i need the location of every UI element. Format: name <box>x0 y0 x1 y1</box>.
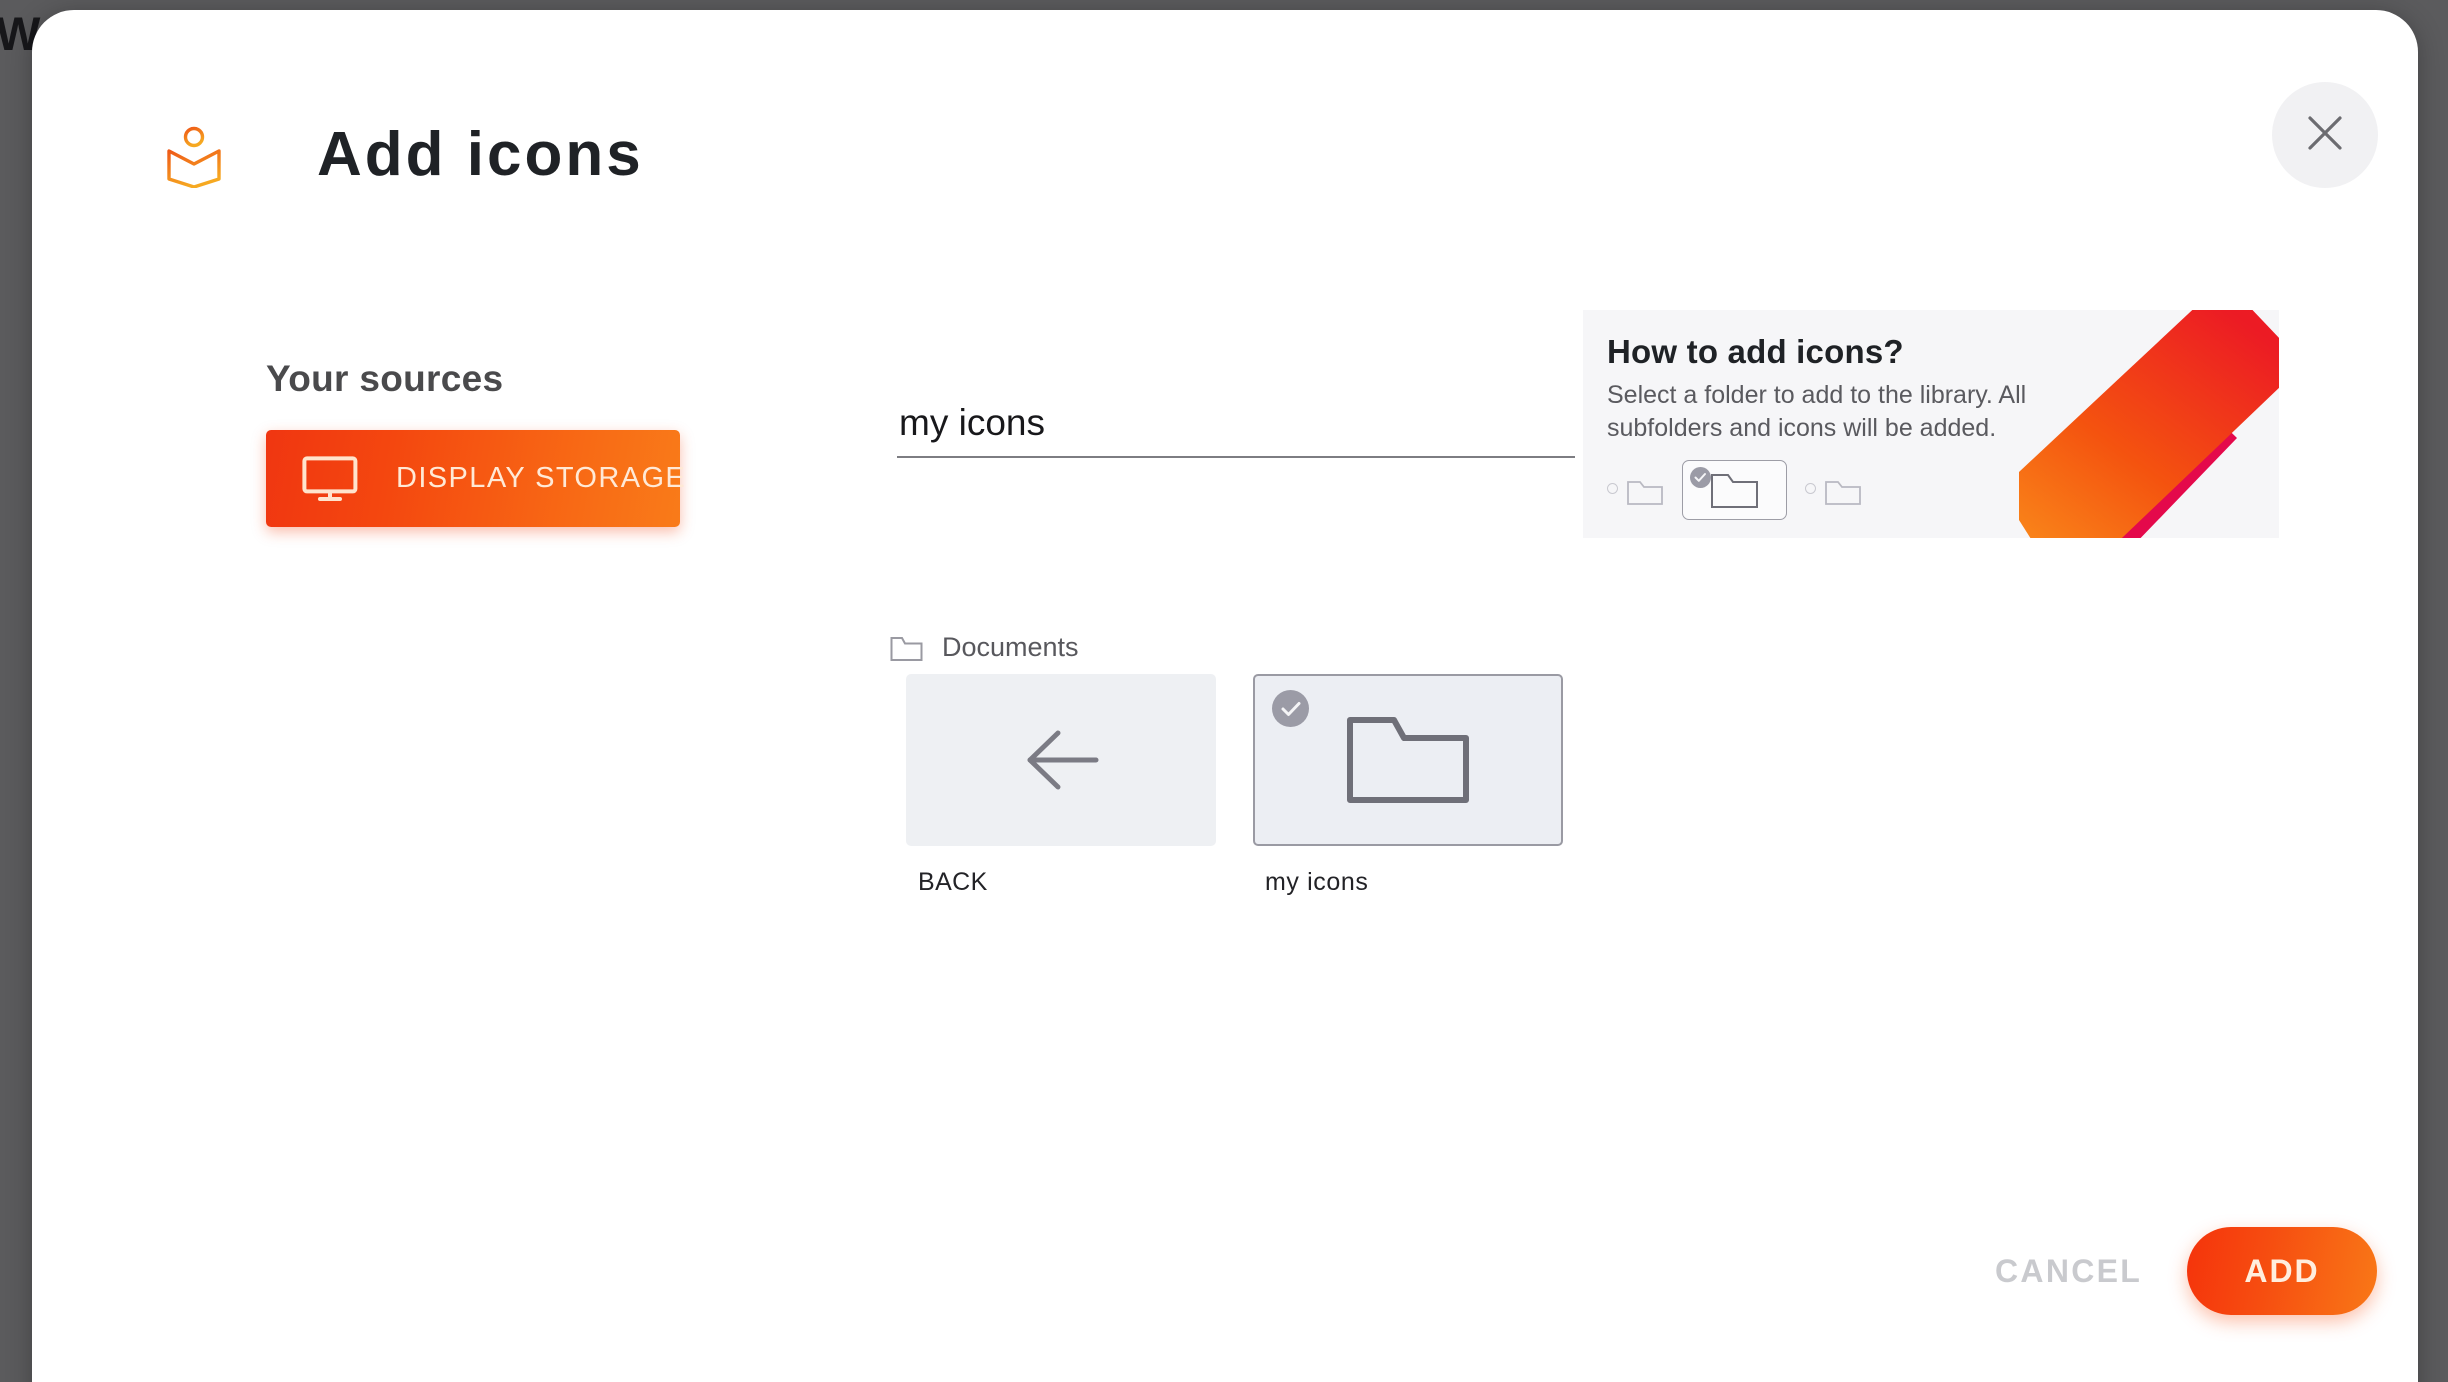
page-title: Add icons <box>317 124 644 186</box>
arrow-left-icon <box>1018 723 1104 797</box>
folder-tile-back[interactable]: BACK <box>906 674 1216 897</box>
radio-unselected-icon <box>1607 483 1618 494</box>
sidebar-item-label: DISPLAY STORAGE <box>396 462 686 495</box>
mini-folder-selected <box>1682 460 1787 520</box>
library-reader-icon <box>166 126 222 188</box>
sources-heading: Your sources <box>266 358 503 400</box>
sidebar-item-display-storage[interactable]: DISPLAY STORAGE <box>266 430 680 527</box>
check-circle-icon <box>1272 690 1309 727</box>
close-button[interactable] <box>2272 82 2378 188</box>
dialog-header: Add icons <box>32 10 2418 250</box>
folder-icon <box>1626 473 1664 507</box>
back-tile-surface[interactable] <box>906 674 1216 846</box>
cancel-button[interactable]: CANCEL <box>1995 1253 2142 1290</box>
info-card: How to add icons? Select a folder to add… <box>1583 310 2279 538</box>
folder-tile-surface[interactable] <box>1253 674 1563 846</box>
info-card-illustration <box>1607 460 1862 520</box>
folder-grid: BACK my icons <box>906 674 1563 897</box>
breadcrumb[interactable]: Documents <box>890 632 1079 663</box>
radio-unselected-icon <box>1805 483 1816 494</box>
mini-folder-unselected <box>1805 473 1862 507</box>
close-icon <box>2303 111 2347 160</box>
add-button[interactable]: ADD <box>2187 1227 2377 1315</box>
breadcrumb-label: Documents <box>942 632 1079 663</box>
folder-name-input[interactable] <box>897 396 1575 458</box>
monitor-icon <box>302 456 358 502</box>
mini-folder-unselected <box>1607 473 1664 507</box>
modal-backdrop: W Add icons <box>0 0 2448 1382</box>
folder-tile-label: my icons <box>1253 868 1563 897</box>
check-circle-icon <box>1690 467 1711 488</box>
info-card-body: Select a folder to add to the library. A… <box>1607 379 2027 446</box>
folder-icon <box>1346 714 1470 806</box>
folder-icon <box>1824 473 1862 507</box>
folder-tile-label: BACK <box>906 868 1216 897</box>
info-card-title: How to add icons? <box>1607 333 1904 371</box>
folder-tile-my-icons[interactable]: my icons <box>1253 674 1563 897</box>
add-icons-dialog: Add icons Your sources DISP <box>32 10 2418 1382</box>
folder-icon <box>1710 469 1760 511</box>
folder-icon <box>890 634 923 662</box>
